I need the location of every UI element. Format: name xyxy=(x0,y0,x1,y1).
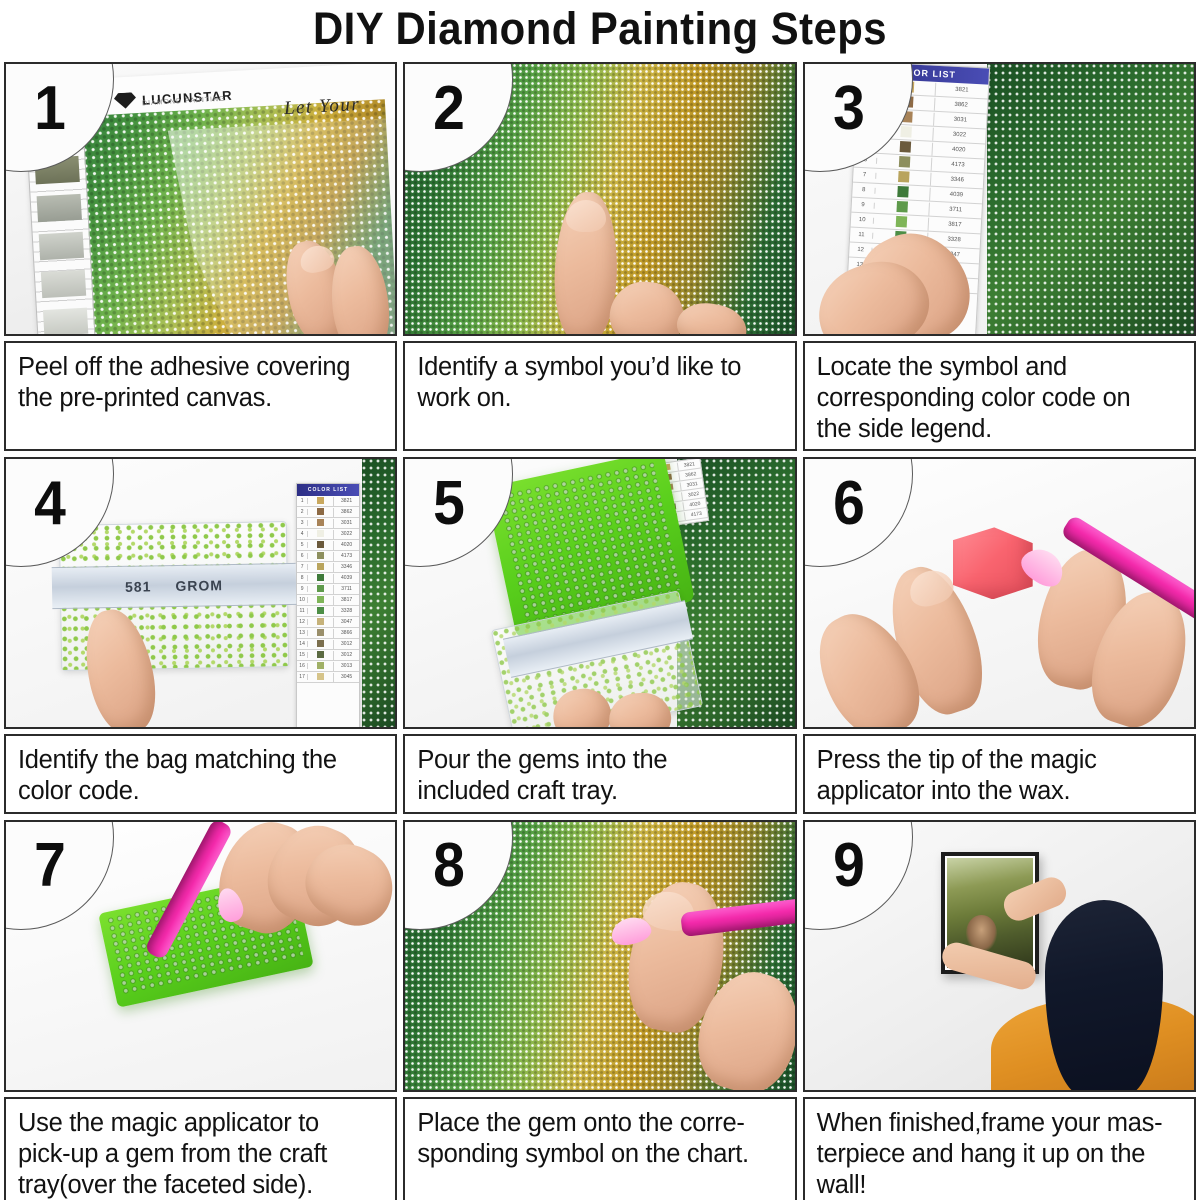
step-5-photo: 13821 23862 33031 43022 54020 64173 xyxy=(403,457,796,729)
scene-finger-on-canvas xyxy=(405,64,794,334)
step-3-photo: COLOR LIST 13821 23862 33031 43022 54020… xyxy=(803,62,1196,336)
step-panel-1: LUCUNSTAR DIAMOND PAINTING Let Your 1 Pe… xyxy=(4,62,397,451)
step-3-caption: Locate the symbol and corresponding colo… xyxy=(803,341,1196,451)
bag-code-text: GROM xyxy=(175,577,223,594)
bag-color-code: 581 xyxy=(125,579,152,595)
step-panel-8: 8 Place the gem onto the corre- sponding… xyxy=(403,820,796,1200)
step-8-caption: Place the gem onto the corre- sponding s… xyxy=(403,1097,796,1200)
scene-place-gem xyxy=(405,822,794,1090)
scene-canvas-peel: LUCUNSTAR DIAMOND PAINTING Let Your xyxy=(6,64,395,334)
step-2-photo: 2 xyxy=(403,62,796,336)
diamond-icon xyxy=(114,92,137,109)
gem-bag-label: 581 GROM xyxy=(52,563,297,609)
step-2-caption: Identify a symbol you’d like to work on. xyxy=(403,341,796,451)
scene-wax-press xyxy=(805,459,1194,727)
step-4-caption: Identify the bag matching the color code… xyxy=(4,734,397,813)
step-4-photo: COLOR LIST 13821 23862 33031 43022 54020… xyxy=(4,457,397,729)
step-1-photo: LUCUNSTAR DIAMOND PAINTING Let Your 1 xyxy=(4,62,397,336)
scene-hang-frame xyxy=(805,822,1194,1090)
step-5-caption: Pour the gems into the included craft tr… xyxy=(403,734,796,813)
step-panel-2: 2 Identify a symbol you’d like to work o… xyxy=(403,62,796,451)
step-6-caption: Press the tip of the magic applicator in… xyxy=(803,734,1196,813)
person-hair xyxy=(1045,900,1163,1092)
step-1-caption: Peel off the adhesive covering the pre-p… xyxy=(4,341,397,451)
infographic-root: DIY Diamond Painting Steps xyxy=(0,0,1200,1200)
scene-pickup-gem xyxy=(6,822,395,1090)
steps-grid: LUCUNSTAR DIAMOND PAINTING Let Your 1 Pe… xyxy=(0,58,1200,1200)
canvas-handwriting: Let Your xyxy=(283,94,360,120)
color-list-card-side: COLOR LIST 13821 23862 33031 43022 54020… xyxy=(296,483,360,729)
step-panel-5: 13821 23862 33031 43022 54020 64173 xyxy=(403,457,796,813)
scene-legend-finger: COLOR LIST 13821 23862 33031 43022 54020… xyxy=(805,64,1194,334)
step-6-photo: 6 xyxy=(803,457,1196,729)
step-panel-9: 9 When finished,frame your mas- terpiece… xyxy=(803,820,1196,1200)
step-9-photo: 9 xyxy=(803,820,1196,1092)
color-list-title-side: COLOR LIST xyxy=(297,484,359,496)
scene-gem-bag: COLOR LIST 13821 23862 33031 43022 54020… xyxy=(6,459,395,727)
step-panel-3: COLOR LIST 13821 23862 33031 43022 54020… xyxy=(803,62,1196,451)
step-7-photo: 7 xyxy=(4,820,397,1092)
page-title: DIY Diamond Painting Steps xyxy=(42,0,1158,58)
scene-pour-gems: 13821 23862 33031 43022 54020 64173 xyxy=(405,459,794,727)
step-9-caption: When finished,frame your mas- terpiece a… xyxy=(803,1097,1196,1200)
step-panel-7: 7 Use the magic applicator to pick-up a … xyxy=(4,820,397,1200)
step-panel-4: COLOR LIST 13821 23862 33031 43022 54020… xyxy=(4,457,397,813)
step-8-photo: 8 xyxy=(403,820,796,1092)
step-panel-6: 6 Press the tip of the magic applicator … xyxy=(803,457,1196,813)
step-7-caption: Use the magic applicator to pick-up a ge… xyxy=(4,1097,397,1200)
